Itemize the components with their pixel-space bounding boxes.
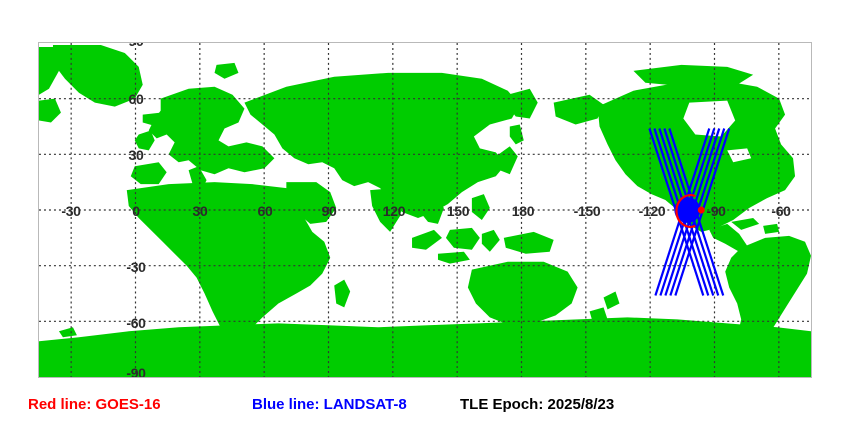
map-legend: Red line: GOES-16 Blue line: LANDSAT-8 T…	[0, 394, 850, 422]
map-canvas	[39, 43, 811, 377]
legend-tle-epoch: TLE Epoch: 2025/8/23	[460, 397, 614, 412]
legend-red-line-goes16: Red line: GOES-16	[28, 397, 161, 412]
goes16-position-marker	[698, 207, 705, 214]
world-map: -30 0 30 60 90 120 150 180 -150 -120 -90…	[38, 42, 812, 378]
legend-blue-line-landsat8: Blue line: LANDSAT-8	[252, 397, 407, 412]
